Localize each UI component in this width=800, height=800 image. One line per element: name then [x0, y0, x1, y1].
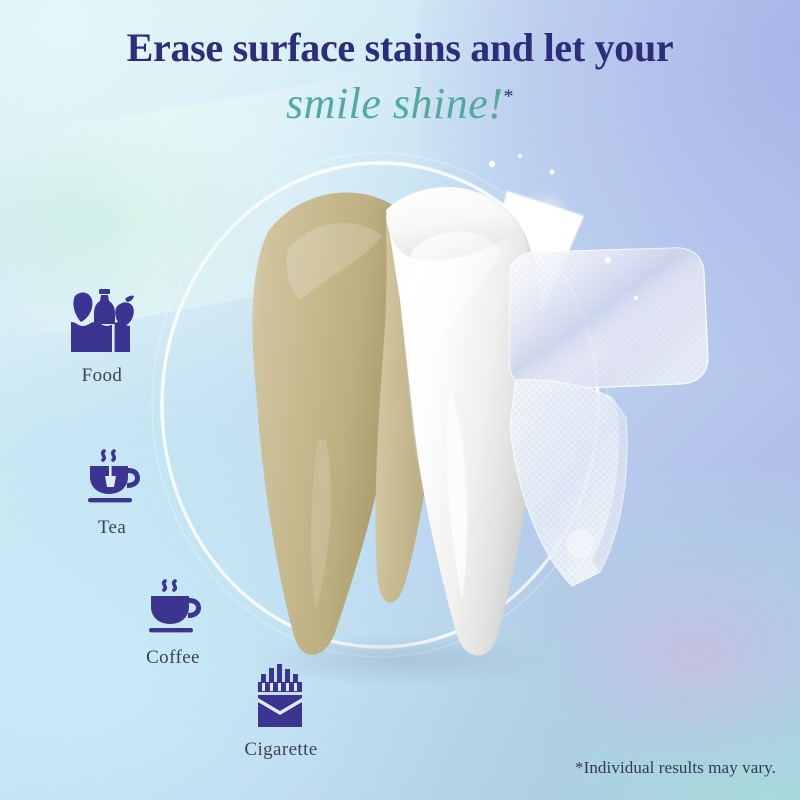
sparkle-small-icon: [500, 470, 660, 620]
stain-source-cigarette[interactable]: Cigarette: [218, 662, 344, 761]
asterisk-marker: *: [503, 85, 514, 107]
stain-source-tea[interactable]: Tea: [58, 444, 166, 539]
stain-source-food[interactable]: Food: [42, 286, 162, 387]
stain-source-coffee[interactable]: Coffee: [118, 574, 228, 669]
stain-source-label: Tea: [58, 517, 166, 539]
sparkle-burst-icon: [430, 120, 670, 340]
poster-canvas: Erase surface stains and let your smile …: [0, 0, 800, 800]
footnote-disclaimer: *Individual results may vary.: [575, 758, 776, 778]
stain-source-label: Food: [42, 365, 162, 387]
cigarette-pack-icon: [250, 662, 312, 732]
headline-line1: Erase surface stains and let your: [0, 28, 800, 68]
stain-source-label: Cigarette: [218, 739, 344, 761]
tea-cup-icon: [79, 444, 145, 510]
stain-source-label: Coffee: [118, 647, 228, 669]
grocery-bag-icon: [65, 286, 139, 358]
coffee-cup-icon: [140, 574, 206, 640]
headline-line2: smile shine!*: [0, 82, 800, 126]
headline-line2-text: smile shine!: [286, 79, 503, 128]
